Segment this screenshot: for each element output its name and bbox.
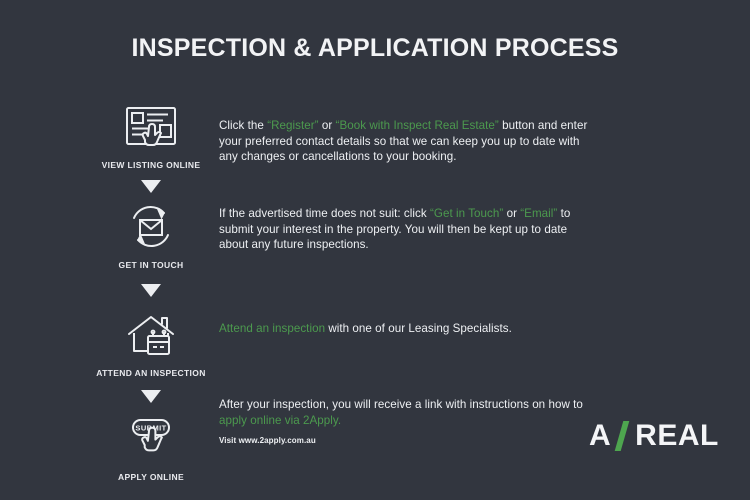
text-segment: After your inspection, you will receive …: [219, 398, 583, 411]
logo-text-a: A: [589, 421, 611, 451]
areal-logo: A REAL: [589, 419, 719, 453]
step-apply-online: SUBMIT APPLY ONLINE: [85, 414, 217, 482]
process-steps-column: VIEW LISTING ONLINE GET IN TOUCH: [85, 100, 217, 482]
visit-url-text: Visit www.2apply.com.au: [219, 436, 316, 445]
description-get-in-touch: If the advertised time does not suit: cl…: [219, 206, 589, 253]
highlight-apply-online-via-2apply: apply online via 2Apply.: [219, 414, 341, 427]
highlight-book-with-inspect-real-estate: “Book with Inspect Real Estate”: [336, 119, 499, 132]
step-attend-an-inspection: ATTEND AN INSPECTION: [85, 310, 217, 378]
highlight-register: “Register”: [267, 119, 318, 132]
step-view-listing-online: VIEW LISTING ONLINE: [85, 100, 217, 170]
text-segment: Click the: [219, 119, 267, 132]
step-label: VIEW LISTING ONLINE: [85, 160, 217, 170]
step-label: GET IN TOUCH: [85, 260, 217, 270]
text-segment: with one of our Leasing Specialists.: [325, 322, 512, 335]
highlight-attend-an-inspection: Attend an inspection: [219, 322, 325, 335]
highlight-email: “Email”: [520, 207, 557, 220]
description-view-listing-online: Click the “Register” or “Book with Inspe…: [219, 118, 589, 165]
step-get-in-touch: GET IN TOUCH: [85, 202, 217, 270]
text-segment: or: [503, 207, 520, 220]
text-segment: If the advertised time does not suit: cl…: [219, 207, 430, 220]
triangle-down-icon: [141, 390, 161, 403]
house-calendar-icon: [85, 310, 217, 362]
triangle-down-icon: [141, 180, 161, 193]
connector-1: [85, 170, 217, 202]
logo-slash-icon: [612, 420, 634, 452]
listing-window-cursor-icon: [85, 100, 217, 156]
text-segment: or: [319, 119, 336, 132]
connector-3: [85, 378, 217, 414]
triangle-down-icon: [141, 284, 161, 297]
envelope-refresh-icon: [85, 202, 217, 252]
submit-button-cursor-icon: SUBMIT: [85, 414, 217, 462]
highlight-get-in-touch: “Get in Touch”: [430, 207, 503, 220]
page-title: INSPECTION & APPLICATION PROCESS: [0, 34, 750, 63]
infographic-poster: INSPECTION & APPLICATION PROCESS VIEW LI…: [0, 0, 750, 500]
logo-text-real: REAL: [635, 421, 719, 451]
description-attend-an-inspection: Attend an inspection with one of our Lea…: [219, 321, 589, 337]
connector-2: [85, 270, 217, 310]
step-label: ATTEND AN INSPECTION: [85, 368, 217, 378]
description-apply-online: After your inspection, you will receive …: [219, 397, 589, 428]
step-label: APPLY ONLINE: [85, 472, 217, 482]
